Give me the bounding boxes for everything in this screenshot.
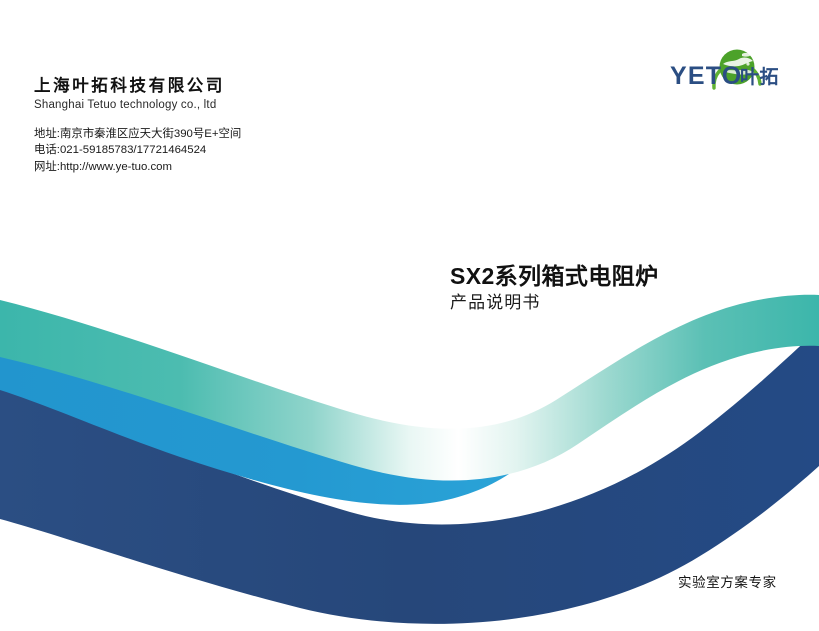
footer-slogan: 实验室方案专家 bbox=[678, 571, 777, 591]
page-title: SX2系列箱式电阻炉 bbox=[450, 263, 790, 290]
page-subtitle: 产品说明书 bbox=[450, 292, 790, 314]
logo-svg: YETO 叶拓 bbox=[668, 44, 808, 108]
logo-wordmark: YETO bbox=[670, 62, 742, 90]
contact-phone: 电话:021-59185783/17721464524 bbox=[34, 142, 454, 159]
wave-band-blue bbox=[0, 356, 540, 505]
logo-wordmark-chinese: 叶拓 bbox=[740, 65, 779, 88]
company-name-english: Shanghai Tetuo technology co., ltd bbox=[34, 98, 454, 113]
wave-band-teal bbox=[0, 295, 819, 481]
company-name-chinese: 上海叶拓科技有限公司 bbox=[34, 76, 454, 97]
contact-address: 地址:南京市秦淮区应天大街390号E+空间 bbox=[34, 126, 454, 143]
contact-website[interactable]: 网址:http://www.ye-tuo.com bbox=[34, 159, 454, 176]
contact-details: 地址:南京市秦淮区应天大街390号E+空间 电话:021-59185783/17… bbox=[34, 126, 454, 176]
company-logo: YETO 叶拓 bbox=[668, 44, 808, 108]
document-title-block: SX2系列箱式电阻炉 产品说明书 bbox=[450, 263, 790, 314]
company-header: 上海叶拓科技有限公司 Shanghai Tetuo technology co.… bbox=[34, 76, 454, 175]
document-cover-page: 上海叶拓科技有限公司 Shanghai Tetuo technology co.… bbox=[0, 0, 819, 631]
